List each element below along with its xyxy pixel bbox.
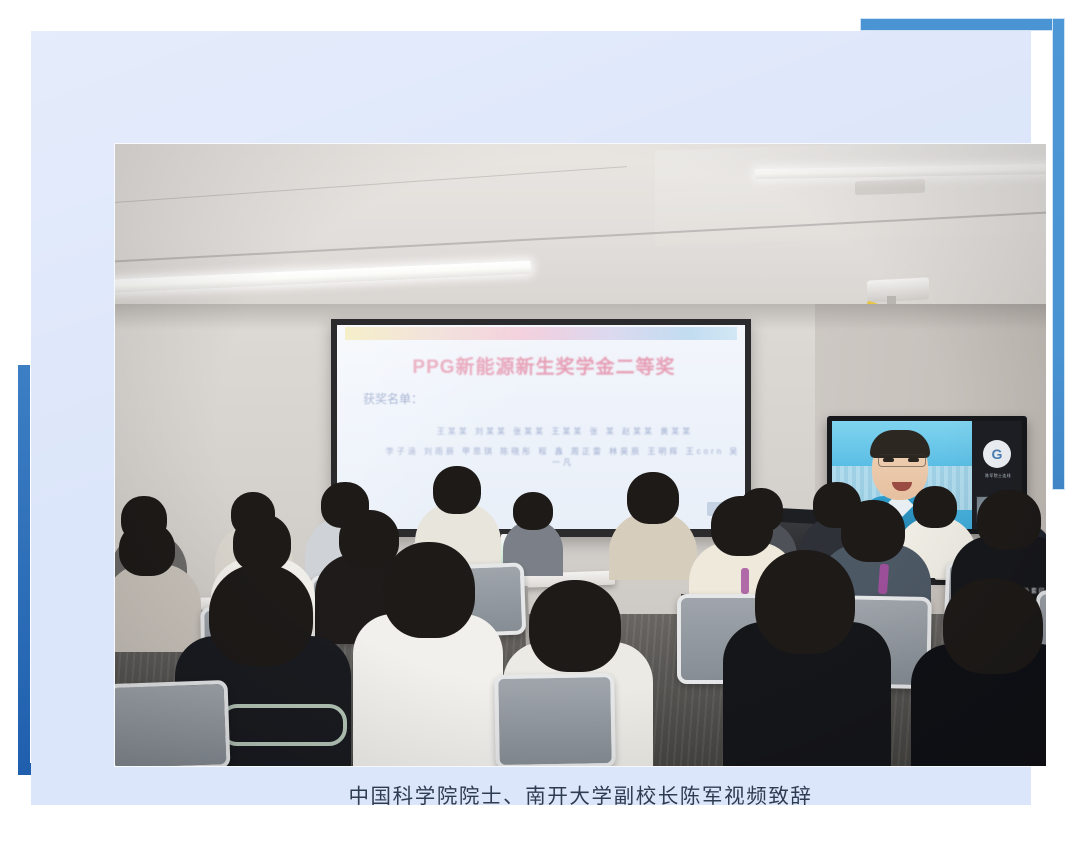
decoration-top-right-vertical [1052,18,1065,490]
decoration-bottom-left-vertical [18,365,30,775]
photo-caption: 中国科学院院士、南开大学副校长陈军视频致辞 [115,779,1046,809]
photo-vignette [115,144,1046,766]
event-photograph: PPG新能源新生奖学金二等奖 获奖名单： 王某某 刘某某 张某某 王某某 张 某… [115,144,1046,766]
decoration-top-right-horizontal [860,18,1065,31]
photo-card: PPG新能源新生奖学金二等奖 获奖名单： 王某某 刘某某 张某某 王某某 张 某… [31,31,1031,805]
